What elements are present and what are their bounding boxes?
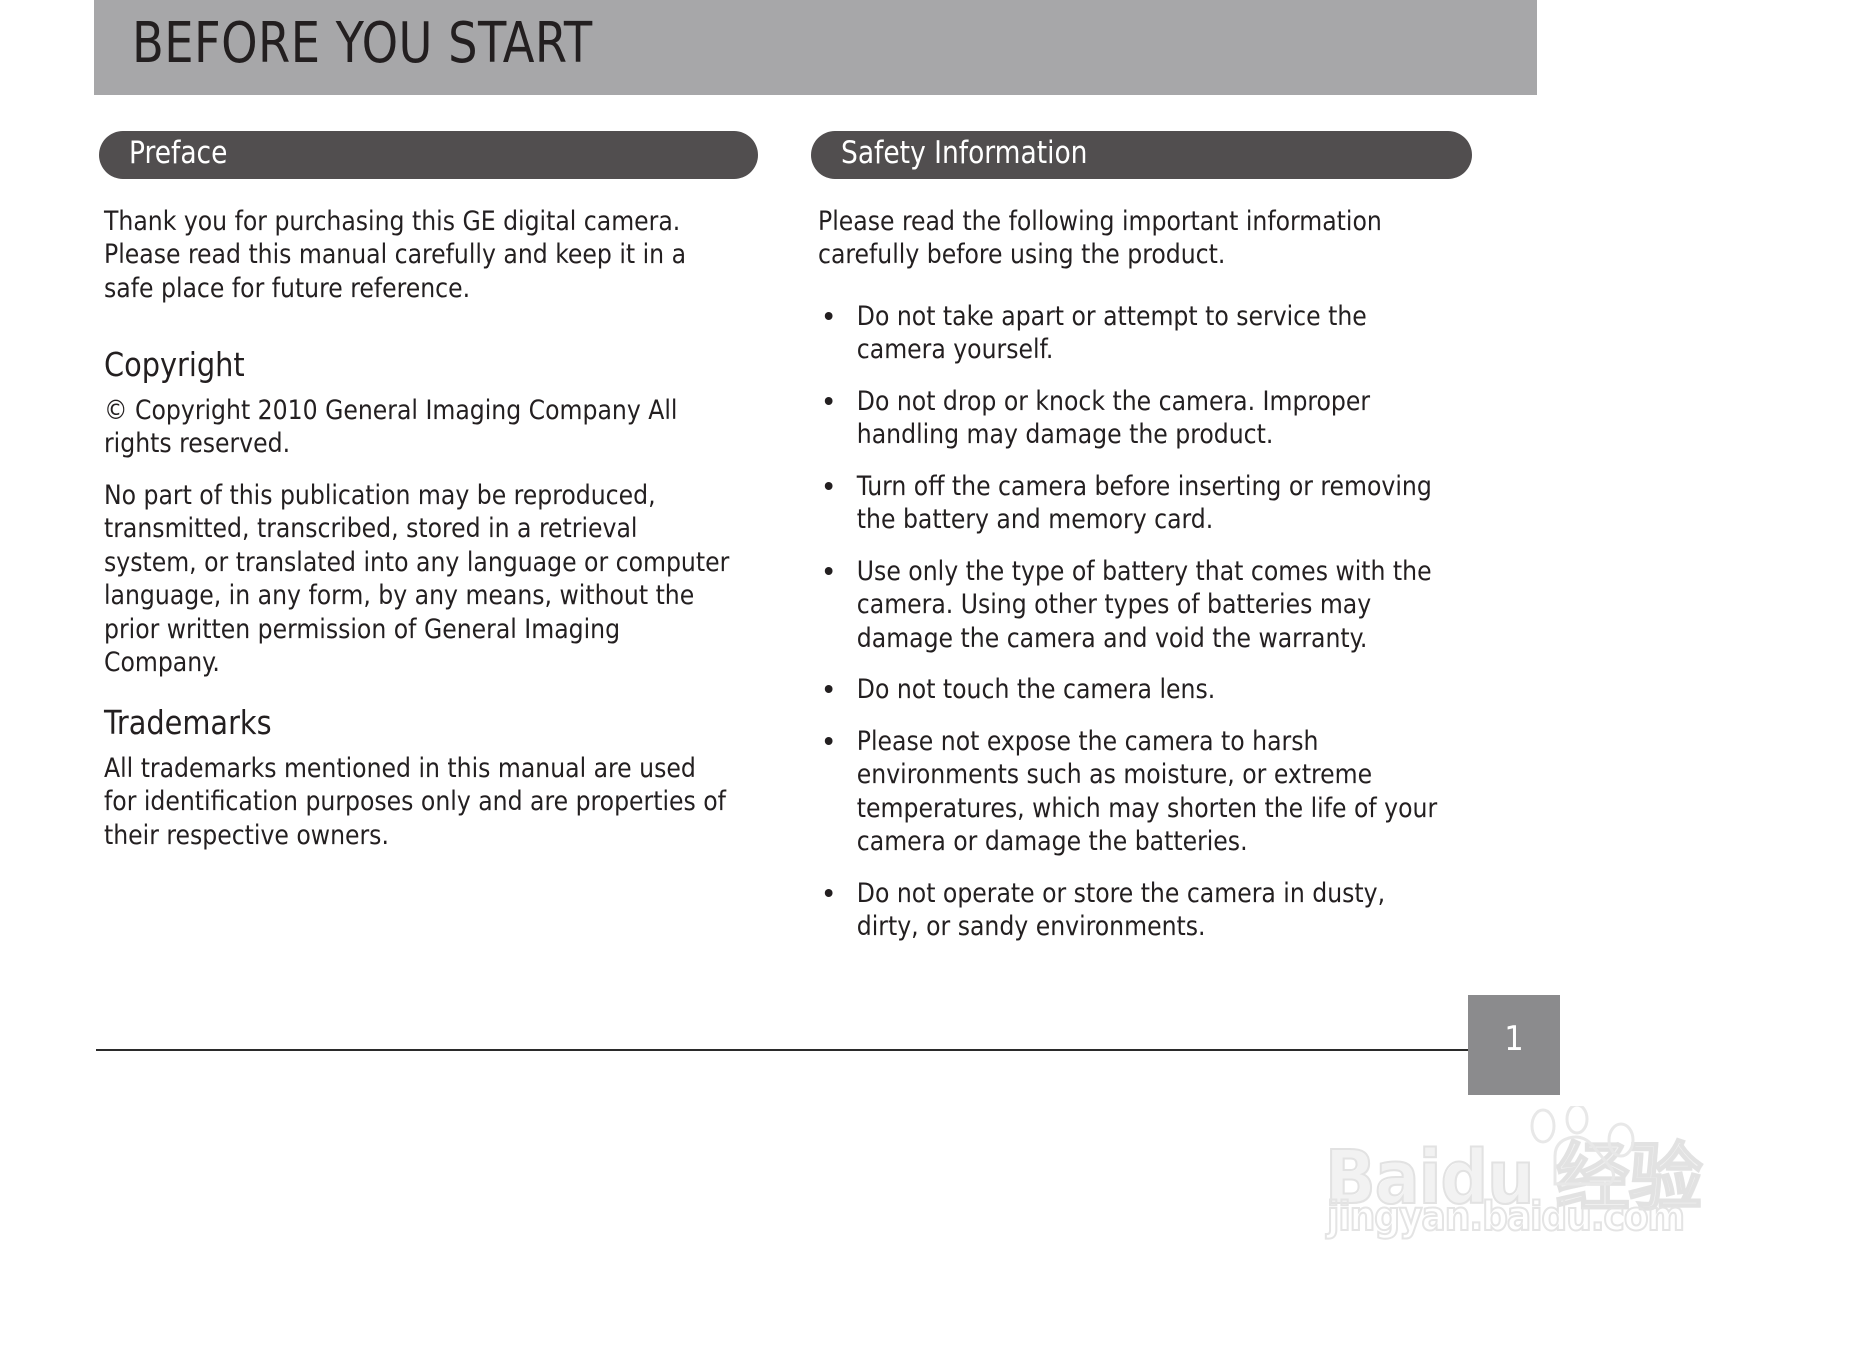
- bullet-dot-icon: [825, 737, 833, 745]
- page-number-badge: 1: [1468, 995, 1560, 1095]
- bullet-dot-icon: [825, 482, 833, 490]
- safety-bullet-text: Do not touch the camera lens.: [857, 674, 1215, 705]
- footer-divider: [96, 1049, 1468, 1051]
- preface-intro-paragraph: Thank you for purchasing this GE digital…: [104, 205, 730, 305]
- trademarks-paragraph-1: All trademarks mentioned in this manual …: [104, 752, 730, 852]
- safety-bullet-item: Do not touch the camera lens.: [818, 673, 1452, 706]
- column-safety-information: Please read the following important info…: [818, 205, 1472, 961]
- page-number-value: 1: [1468, 1019, 1560, 1059]
- safety-bullet-text: Do not operate or store the camera in du…: [857, 878, 1385, 942]
- subheading-copyright: Copyright: [104, 347, 730, 383]
- section-header-preface: Preface: [99, 131, 758, 179]
- column-preface: Thank you for purchasing this GE digital…: [104, 205, 749, 870]
- bullet-dot-icon: [825, 685, 833, 693]
- bullet-dot-icon: [825, 567, 833, 575]
- safety-bullet-text: Use only the type of battery that comes …: [857, 556, 1432, 654]
- watermark-main-text: Baidu 经验: [1325, 1118, 1702, 1225]
- safety-bullet-item: Please not expose the camera to harsh en…: [818, 725, 1452, 859]
- page-header-bar: BEFORE YOU START: [94, 0, 1537, 95]
- safety-bullet-text: Do not drop or knock the camera. Imprope…: [857, 386, 1370, 450]
- safety-bullet-item: Turn off the camera before inserting or …: [818, 470, 1452, 537]
- watermark-sub-text: jingyan.baidu.com: [1327, 1194, 1684, 1240]
- document-page: BEFORE YOU START Preface Safety Informat…: [0, 0, 1871, 1361]
- bullet-dot-icon: [825, 397, 833, 405]
- page-title: BEFORE YOU START: [132, 11, 593, 76]
- safety-bullet-list: Do not take apart or attempt to service …: [818, 300, 1472, 944]
- bullet-dot-icon: [825, 889, 833, 897]
- safety-bullet-item: Do not operate or store the camera in du…: [818, 877, 1452, 944]
- subheading-trademarks: Trademarks: [104, 705, 730, 741]
- section-header-safety-information-label: Safety Information: [841, 135, 1087, 171]
- baidu-watermark: Baidu 经验 jingyan.baidu.com: [1325, 1118, 1745, 1268]
- copyright-paragraph-2: No part of this publication may be repro…: [104, 479, 730, 680]
- safety-intro-paragraph: Please read the following important info…: [818, 205, 1452, 272]
- bullet-dot-icon: [825, 312, 833, 320]
- baidu-paw-icon: [1521, 1106, 1641, 1186]
- safety-bullet-item: Do not drop or knock the camera. Imprope…: [818, 385, 1452, 452]
- safety-bullet-item: Do not take apart or attempt to service …: [818, 300, 1452, 367]
- section-header-safety-information: Safety Information: [811, 131, 1472, 179]
- safety-bullet-text: Please not expose the camera to harsh en…: [857, 726, 1437, 857]
- safety-bullet-text: Do not take apart or attempt to service …: [857, 301, 1367, 365]
- copyright-paragraph-1: © Copyright 2010 General Imaging Company…: [104, 394, 730, 461]
- safety-bullet-text: Turn off the camera before inserting or …: [857, 471, 1432, 535]
- safety-bullet-item: Use only the type of battery that comes …: [818, 555, 1452, 655]
- section-header-preface-label: Preface: [129, 135, 227, 171]
